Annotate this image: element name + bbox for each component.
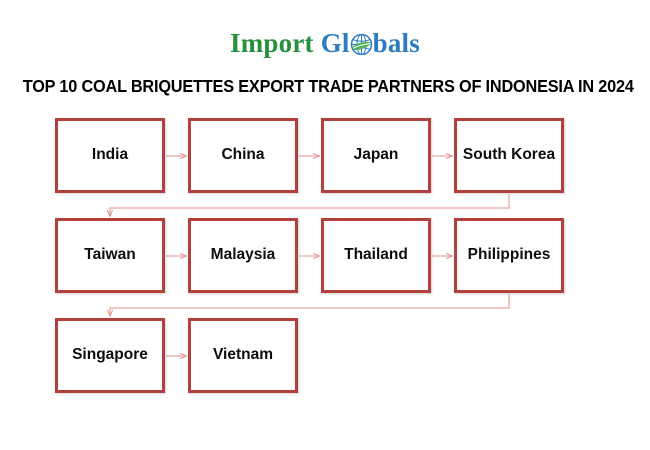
node-label-south-korea: South Korea [459, 146, 559, 164]
node-label-thailand: Thailand [340, 246, 412, 264]
node-label-malaysia: Malaysia [207, 246, 280, 264]
node-south-korea[interactable]: South Korea [454, 118, 564, 193]
arrow-philippines-singapore [110, 294, 509, 316]
node-label-china: China [217, 146, 268, 164]
node-label-japan: Japan [350, 146, 403, 164]
flow-chart: India China Japan South Korea Taiwan Mal… [0, 0, 650, 450]
node-label-philippines: Philippines [464, 246, 555, 264]
diagram-canvas: ImportGl bals TOP 10 COAL [0, 0, 650, 450]
arrow-south-korea-taiwan [110, 194, 509, 216]
node-label-india: India [88, 146, 132, 164]
node-taiwan[interactable]: Taiwan [55, 218, 165, 293]
node-label-taiwan: Taiwan [80, 246, 139, 264]
node-malaysia[interactable]: Malaysia [188, 218, 298, 293]
node-japan[interactable]: Japan [321, 118, 431, 193]
node-thailand[interactable]: Thailand [321, 218, 431, 293]
node-philippines[interactable]: Philippines [454, 218, 564, 293]
node-label-vietnam: Vietnam [209, 346, 277, 364]
node-label-singapore: Singapore [68, 346, 152, 364]
node-vietnam[interactable]: Vietnam [188, 318, 298, 393]
node-singapore[interactable]: Singapore [55, 318, 165, 393]
node-china[interactable]: China [188, 118, 298, 193]
node-india[interactable]: India [55, 118, 165, 193]
